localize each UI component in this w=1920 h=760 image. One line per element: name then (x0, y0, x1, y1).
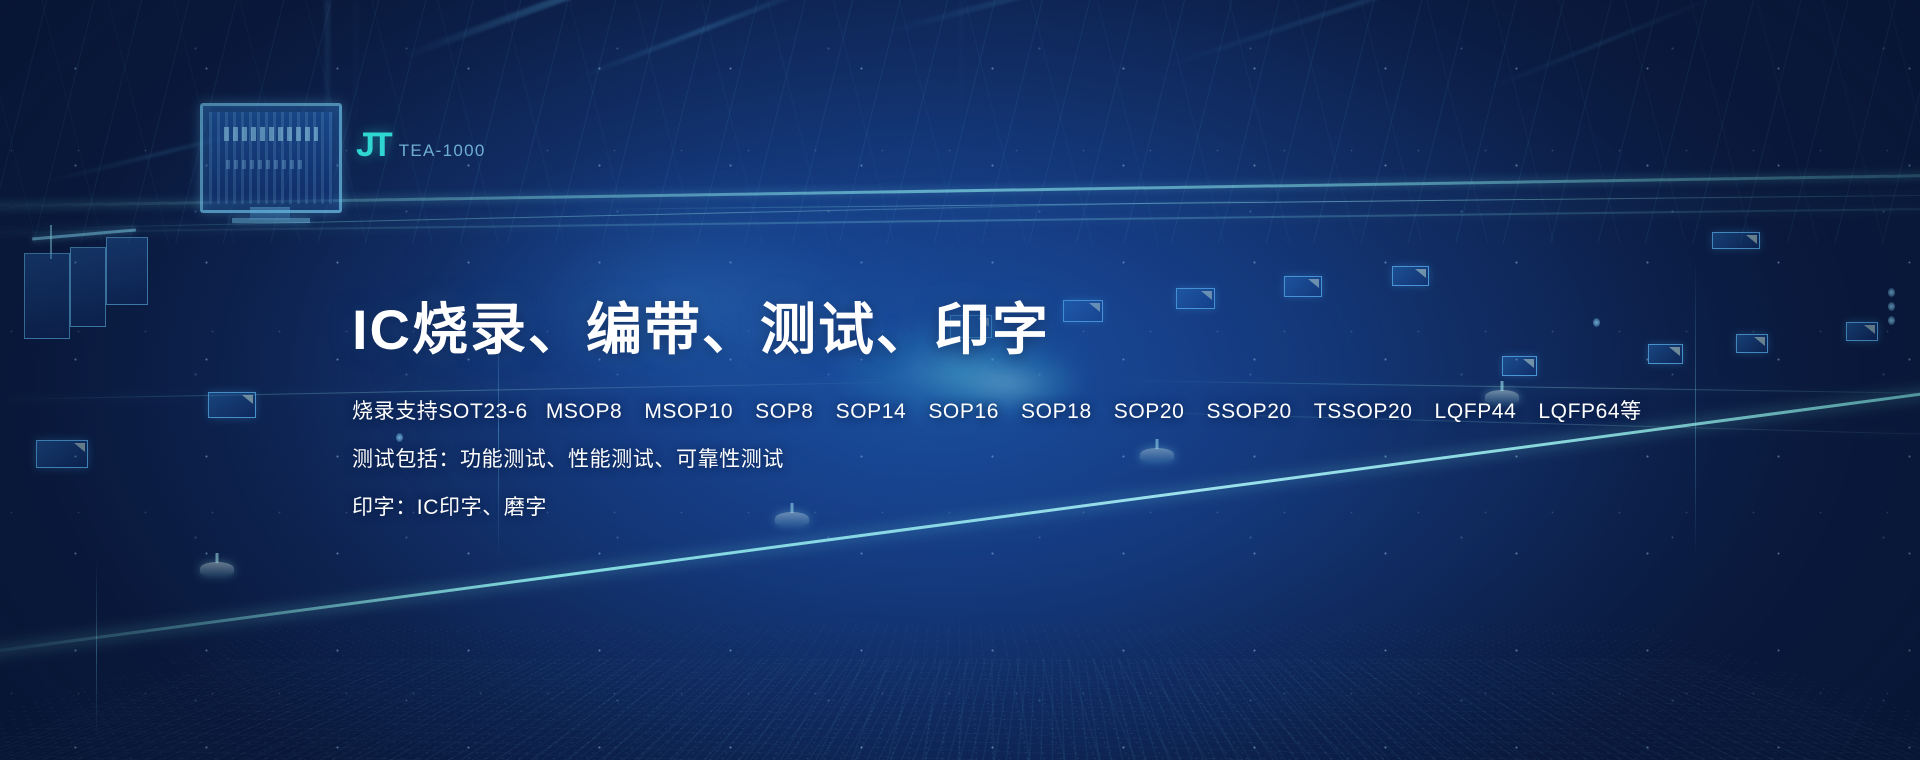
package-list: MSOP8MSOP10SOP8SOP14SOP16SOP18SOP20SSOP2… (546, 400, 1642, 423)
marking-scope-line: 印字：IC印字、磨字 (352, 497, 1612, 518)
page-title: IC烧录、编带、测试、印字 (352, 300, 1612, 359)
hero-banner: JT TEA-1000 IC烧录、编带、测试、印字 烧录支持SOT23-6MSO… (0, 0, 1920, 760)
package-item: SOP20 (1114, 401, 1185, 422)
brand-mark: JT TEA-1000 (356, 126, 486, 165)
package-item: SOP8 (755, 401, 813, 422)
package-item: SOP16 (928, 401, 999, 422)
package-item: SSOP20 (1206, 401, 1291, 422)
package-item: MSOP8 (546, 401, 623, 422)
package-item: LQFP44 (1435, 401, 1517, 422)
package-item: MSOP10 (644, 401, 733, 422)
burn-support-lead: 烧录支持SOT23-6 (352, 401, 528, 422)
brand-logo-text: JT (356, 126, 390, 165)
package-item: SOP18 (1021, 401, 1092, 422)
burn-support-line: 烧录支持SOT23-6MSOP8MSOP10SOP8SOP14SOP16SOP1… (352, 401, 1612, 422)
brand-model-text: TEA-1000 (399, 141, 486, 161)
feature-line-list: 烧录支持SOT23-6MSOP8MSOP10SOP8SOP14SOP16SOP1… (352, 401, 1612, 518)
package-item: SOP14 (836, 401, 907, 422)
banner-content: IC烧录、编带、测试、印字 烧录支持SOT23-6MSOP8MSOP10SOP8… (352, 300, 1612, 518)
test-scope-line: 测试包括：功能测试、性能测试、可靠性测试 (352, 449, 1612, 470)
package-item: TSSOP20 (1314, 401, 1413, 422)
package-item: LQFP64等 (1538, 401, 1641, 422)
